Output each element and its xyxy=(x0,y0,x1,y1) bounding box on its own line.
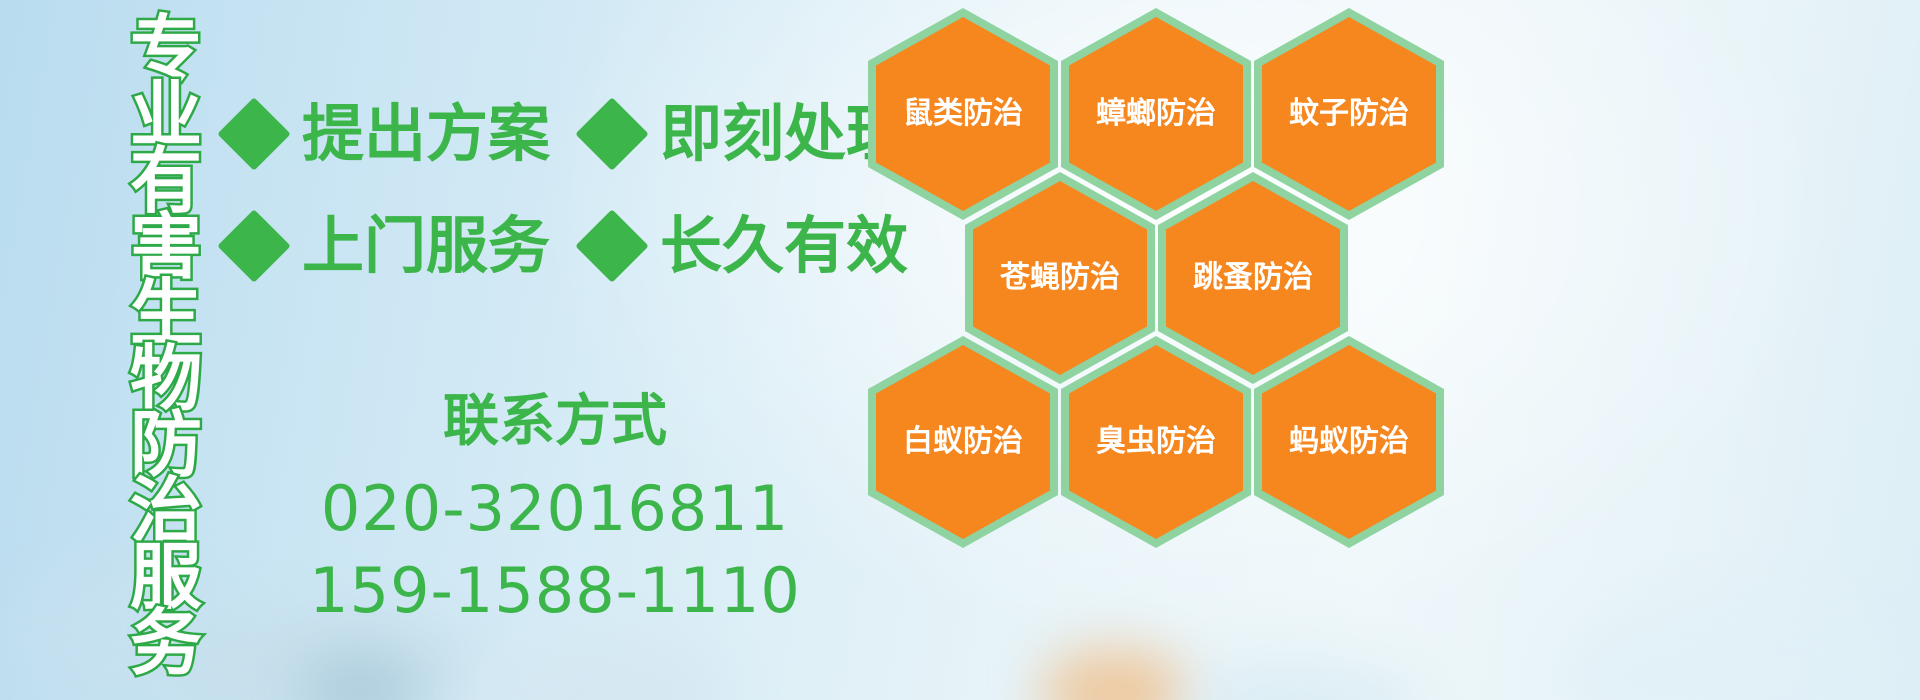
hex-inner: 跳蚤防治 xyxy=(1166,181,1340,375)
hex-label: 蟑螂防治 xyxy=(1096,98,1216,130)
diamond-icon xyxy=(575,209,649,283)
vertical-headline: 专 业 有 害 生 物 防 治 服 务 xyxy=(118,16,214,684)
feature-item-propose-plan: 提出方案 xyxy=(228,103,550,165)
vertical-headline-char: 务 xyxy=(130,610,202,676)
feature-row: 上门服务 长久有效 xyxy=(228,190,868,302)
feature-label: 提出方案 xyxy=(302,103,550,165)
hex-label: 跳蚤防治 xyxy=(1193,262,1313,294)
hex-inner: 蟑螂防治 xyxy=(1069,17,1243,211)
hex-inner: 白蚁防治 xyxy=(876,345,1050,539)
diamond-icon xyxy=(217,209,291,283)
hex-label: 白蚁防治 xyxy=(903,426,1023,458)
hex-cell-flea-control[interactable]: 跳蚤防治 xyxy=(1158,172,1348,384)
hex-cell-cockroach-control[interactable]: 蟑螂防治 xyxy=(1061,8,1251,220)
contact-phone-landline[interactable]: 020-32016811 xyxy=(300,468,810,550)
hex-label: 臭虫防治 xyxy=(1096,426,1216,458)
hex-label: 鼠类防治 xyxy=(903,98,1023,130)
feature-list: 提出方案 即刻处理 上门服务 长久有效 xyxy=(228,78,868,302)
hex-cell-termite-control[interactable]: 白蚁防治 xyxy=(868,336,1058,548)
hex-inner: 蚂蚁防治 xyxy=(1262,345,1436,539)
diamond-icon xyxy=(217,97,291,171)
hex-inner: 鼠类防治 xyxy=(876,17,1050,211)
feature-label: 上门服务 xyxy=(302,215,550,277)
hex-label: 蚂蚁防治 xyxy=(1289,426,1409,458)
service-honeycomb: 鼠类防治 蟑螂防治 蚊子防治 苍蝇防治 跳蚤防治 白蚁防治 xyxy=(860,0,1460,700)
hex-cell-bedbug-control[interactable]: 臭虫防治 xyxy=(1061,336,1251,548)
hex-cell-ant-control[interactable]: 蚂蚁防治 xyxy=(1254,336,1444,548)
hex-inner: 苍蝇防治 xyxy=(973,181,1147,375)
hex-label: 苍蝇防治 xyxy=(1000,262,1120,294)
hex-inner: 蚊子防治 xyxy=(1262,17,1436,211)
background-blur-blob xyxy=(470,640,730,700)
background-blur-blob xyxy=(300,655,420,700)
diamond-icon xyxy=(575,97,649,171)
pest-control-banner: 专 业 有 害 生 物 防 治 服 务 提出方案 即刻处理 上门服务 xyxy=(0,0,1920,700)
contact-phone-mobile[interactable]: 159-1588-1110 xyxy=(300,550,810,632)
hex-cell-rodent-control[interactable]: 鼠类防治 xyxy=(868,8,1058,220)
hex-inner: 臭虫防治 xyxy=(1069,345,1243,539)
feature-row: 提出方案 即刻处理 xyxy=(228,78,868,190)
hex-label: 蚊子防治 xyxy=(1289,98,1409,130)
feature-item-onsite-service: 上门服务 xyxy=(228,215,550,277)
hex-cell-mosquito-control[interactable]: 蚊子防治 xyxy=(1254,8,1444,220)
hex-cell-fly-control[interactable]: 苍蝇防治 xyxy=(965,172,1155,384)
background-blur-blob xyxy=(1560,600,1900,700)
contact-title: 联系方式 xyxy=(300,392,810,452)
contact-block: 联系方式 020-32016811 159-1588-1110 xyxy=(300,392,810,632)
